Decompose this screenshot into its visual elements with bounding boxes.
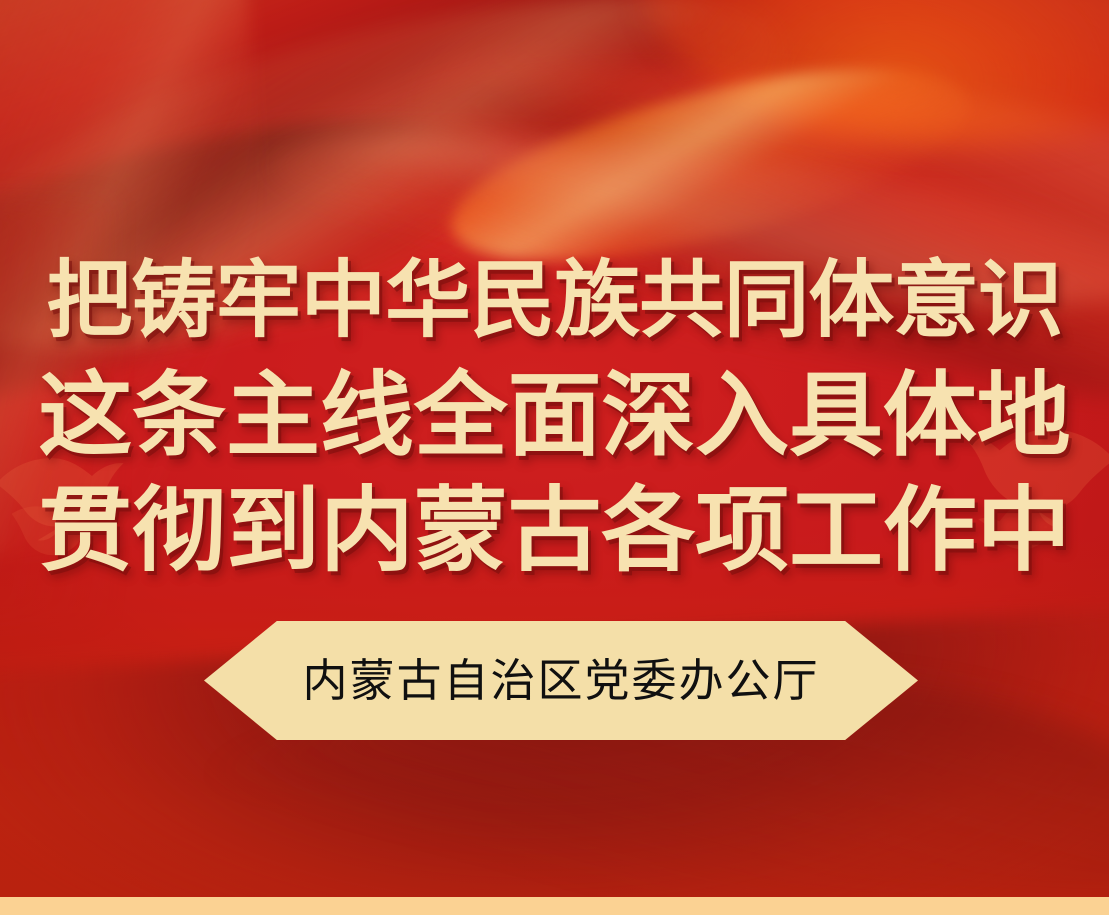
banner-hexagon-shape: 内蒙古自治区党委办公厅	[204, 621, 918, 740]
title-line-3: 贯彻到内蒙古各项工作中	[0, 473, 1109, 588]
issuer-banner: 内蒙古自治区党委办公厅	[204, 621, 918, 740]
poster-title: 把铸牢中华民族共同体意识 这条主线全面深入具体地 贯彻到内蒙古各项工作中	[0, 243, 1109, 588]
banner-label: 内蒙古自治区党委办公厅	[302, 658, 819, 703]
bottom-accent-strip	[0, 897, 1109, 915]
title-line-1: 把铸牢中华民族共同体意识	[0, 243, 1109, 358]
poster: 把铸牢中华民族共同体意识 这条主线全面深入具体地 贯彻到内蒙古各项工作中 内蒙古…	[0, 0, 1109, 915]
title-line-2: 这条主线全面深入具体地	[0, 358, 1109, 473]
